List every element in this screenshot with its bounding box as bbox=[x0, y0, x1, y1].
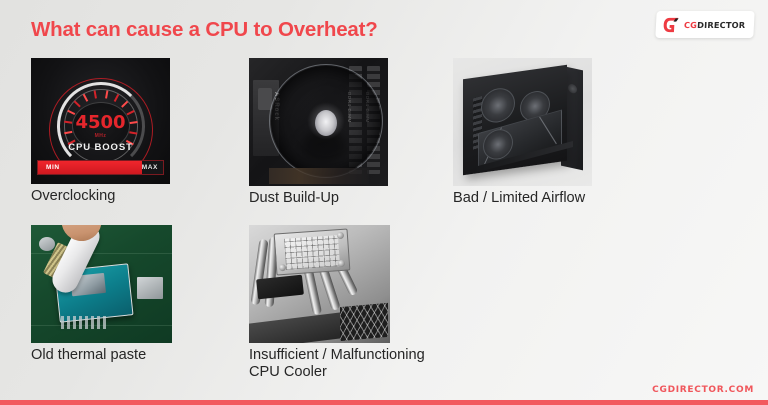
cooler-grid-pattern bbox=[284, 235, 340, 270]
cpu-boost-gauge-image: 4500 MHz CPU BOOST MIN MAX bbox=[31, 58, 170, 184]
pc-case-image bbox=[453, 58, 592, 186]
screw-icon bbox=[279, 264, 286, 271]
case-body bbox=[463, 65, 567, 176]
card-caption-dust: Dust Build-Up bbox=[249, 190, 388, 207]
page-title: What can cause a CPU to Overheat? bbox=[31, 18, 378, 42]
card-airflow: Bad / Limited Airflow bbox=[453, 58, 592, 207]
cpu-boost-slider[interactable]: MIN MAX bbox=[37, 160, 164, 175]
cpu-cooler-image bbox=[249, 225, 390, 343]
card-caption-cpu-cooler: Insufficient / Malfunctioning CPU Cooler bbox=[249, 347, 425, 381]
screw-icon bbox=[338, 260, 345, 267]
cooler-base-plate bbox=[274, 228, 351, 275]
logo-word-cg: CG bbox=[684, 20, 698, 30]
gauge-unit: MHz bbox=[95, 133, 107, 139]
dusty-cpu-fan-image: ASRock DDR4 DIMM DDR4 DIMM bbox=[249, 58, 388, 186]
slider-min-label: MIN bbox=[46, 164, 60, 171]
footer-accent-bar bbox=[0, 400, 768, 405]
slide-root: What can cause a CPU to Overheat? CGDIRE… bbox=[0, 0, 768, 405]
cgdirector-logo: CGDIRECTOR bbox=[655, 11, 754, 38]
pcb-chip bbox=[137, 277, 163, 299]
logo-word-director: DIRECTOR bbox=[697, 20, 746, 30]
slider-max-label: MAX bbox=[142, 164, 158, 171]
case-fan-icon bbox=[481, 86, 515, 125]
footer-site-url: CGDIRECTOR.COM bbox=[652, 385, 754, 395]
cooler-fin-stack bbox=[340, 303, 388, 341]
logo-wordmark: CGDIRECTOR bbox=[684, 20, 746, 30]
card-thermal-paste: Old thermal paste bbox=[31, 225, 172, 364]
pcb-capacitor bbox=[39, 237, 55, 251]
motherboard-lower-edge bbox=[269, 168, 369, 184]
card-caption-thermal-paste: Old thermal paste bbox=[31, 347, 172, 364]
card-overclocking: 4500 MHz CPU BOOST MIN MAX Overclocking bbox=[31, 58, 170, 205]
screw-icon bbox=[337, 232, 344, 239]
cpu-boost-slider-fill: MIN bbox=[38, 161, 142, 174]
fan-hub bbox=[315, 110, 337, 136]
pcb-contact-pads bbox=[61, 316, 109, 329]
card-cpu-cooler: Insufficient / Malfunctioning CPU Cooler bbox=[249, 225, 425, 381]
g-logo-icon bbox=[663, 17, 681, 33]
cpu-boost-label: CPU BOOST bbox=[31, 142, 170, 153]
card-caption-overclocking: Overclocking bbox=[31, 188, 170, 205]
card-dust-build-up: ASRock DDR4 DIMM DDR4 DIMM Dust Build-Up bbox=[249, 58, 388, 207]
power-button-icon bbox=[568, 83, 577, 94]
gauge-value: 4500 bbox=[75, 114, 125, 132]
thermal-paste-image bbox=[31, 225, 172, 343]
card-caption-airflow: Bad / Limited Airflow bbox=[453, 190, 592, 207]
